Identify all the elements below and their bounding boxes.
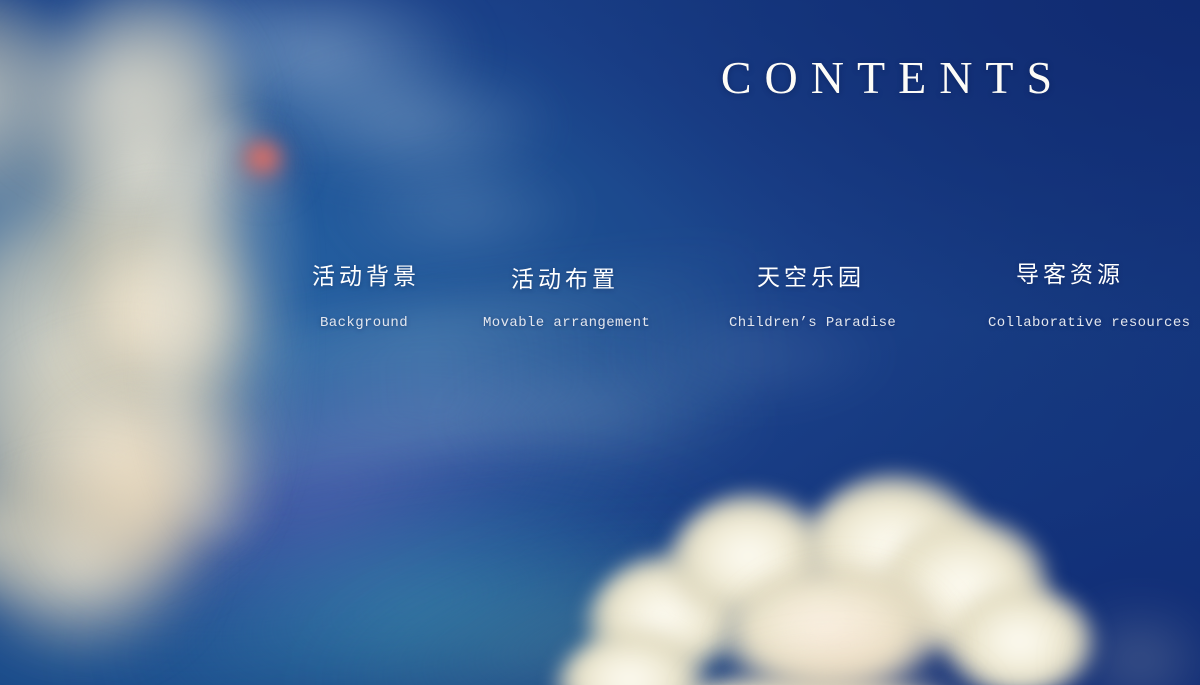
contents-item-1[interactable]: 活动背景 Background [284,252,444,333]
contents-item-1-subtitle: Background [284,313,444,333]
slide-title-text: CONTENTS [708,50,1065,106]
contents-item-2-heading: 活动布置 [483,263,643,295]
contents-list: 活动背景 Background 活动布置 Movable arrangement… [0,252,1200,352]
contents-item-4[interactable]: 导客资源 Collaborative resources [988,252,1148,333]
contents-slide: CONTENTS 活动背景 Background 活动布置 Movable ar… [0,0,1200,685]
contents-item-3-heading: 天空乐园 [729,261,889,293]
contents-item-1-heading: 活动背景 [284,260,444,292]
contents-item-3-subtitle: Children’s Paradise [729,313,889,333]
bottom-cumulus-cloud [540,440,1100,685]
contents-item-2-subtitle: Movable arrangement [483,313,643,333]
coral-blob-icon [238,136,290,188]
contents-item-4-subtitle: Collaborative resources [988,313,1148,333]
contents-item-2[interactable]: 活动布置 Movable arrangement [483,252,643,333]
contents-item-4-heading: 导客资源 [988,258,1148,290]
contents-item-3[interactable]: 天空乐园 Children’s Paradise [729,252,889,333]
slide-title: CONTENTS [0,50,1200,106]
